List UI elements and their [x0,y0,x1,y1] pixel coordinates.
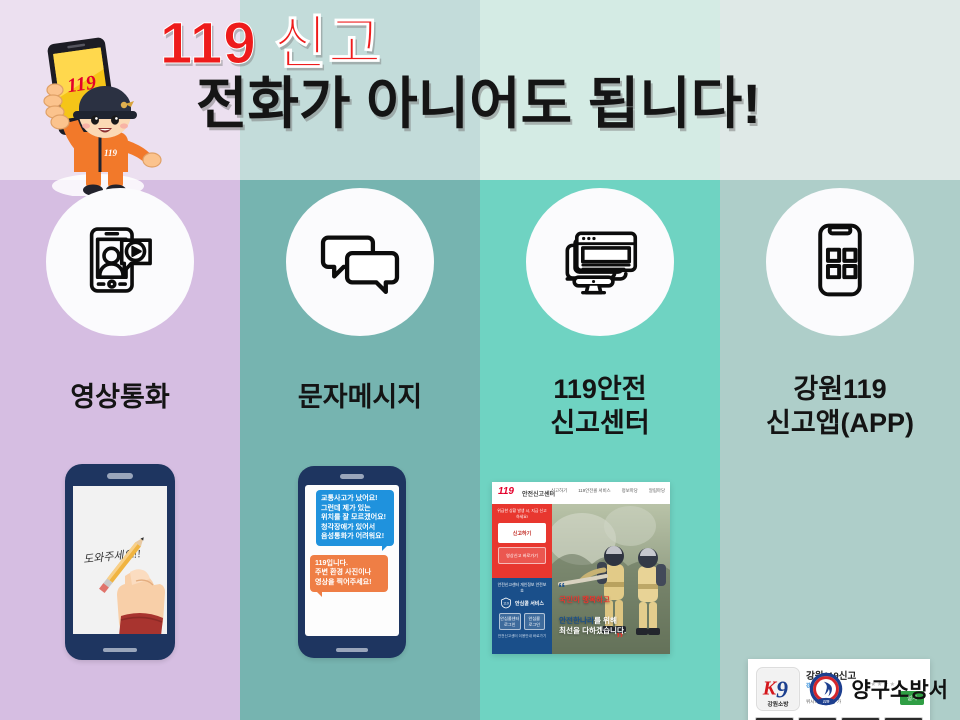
report-button-label: 신고하기 [513,530,531,537]
nav-item[interactable]: 119안전콜 서비스 [578,488,610,494]
nav-item[interactable]: 정보마당 [622,488,638,494]
safecall-login-button-alt[interactable]: 안심콜 로그인 [524,613,546,630]
handwriting-phone-mockup: 도와주세요!! [65,464,175,660]
column-tint-band [480,0,720,180]
video-report-label: 영상신고 바로가기 [506,553,538,559]
report-button[interactable]: 신고하기 [498,523,546,543]
svg-text:119: 119 [503,602,509,606]
column-tint-band [720,0,960,180]
smartphone-apps-icon [797,217,883,308]
poster-root: 119 119 [0,0,960,720]
icon-circle-text-message [286,188,434,336]
phone-speaker [340,474,364,479]
hero-quote: 국민이 행복하고 안전한나라를 위해 최선을 다하겠습니다. [559,585,626,636]
footer-organization-name: 양구소방서 [851,674,948,704]
safety-report-website-screenshot: 119 안전신고센터 신고하기 119안전콜 서비스 정보마당 알림마당 위급한… [492,482,670,654]
safecall-label: 안심콜 서비스 [515,600,544,607]
column-gangwon-119-app [720,0,960,720]
phone-home-bar [103,648,137,652]
safecall-note[interactable]: 안전신고센터 이용안내 바로가기 [496,634,548,639]
desktop-browser-icon [557,217,643,308]
shield-icon: 119 [500,597,512,609]
phone-screen: 도와주세요!! [73,486,167,634]
chat-bubbles-icon [317,217,403,308]
icon-circle-gangwon-119-app [766,188,914,336]
nav-item[interactable]: 신고하기 [551,488,567,494]
safecall-login-button[interactable]: 안심콜센터 로그인 [499,613,521,630]
website-logo: 119 [498,486,514,497]
sms-conversation-phone-mockup: 교통사고가 났어요! 그런데 제가 있는 위치를 잘 모르겠어요! 청각장애가 … [298,466,406,658]
website-hero-image: “ ” 국민이 행복하고 안전한나라를 위해 최선을 다하겠습니다. [552,504,670,654]
app-icon: K 9 강원소방 [756,667,800,711]
footer-organization: 119 양구소방서 [809,672,948,706]
caption-gangwon-119-app: 강원119 신고앱(APP) [720,372,960,440]
sms-incoming-tail [382,545,388,551]
hero-quote-line1: 국민이 행복하고 [559,595,610,604]
caption-safety-report-center: 119안전 신고센터 [480,372,720,440]
safecall-panel-caption: 안전신고센터 개인정보 안전보호 [496,582,548,594]
phone-speaker [107,473,133,479]
hero-quote-line2: 안전한나라 [559,616,594,625]
website-safecall-panel: 안전신고센터 개인정보 안전보호 119 안심콜 서비스 안심콜센터 로그인 안… [492,578,552,654]
caption-text-message: 문자메시지 [240,380,480,414]
yanggu-fire-station-emblem: 119 [809,672,843,706]
video-report-button[interactable]: 영상신고 바로가기 [498,547,546,564]
caption-video-call: 영상통화 [0,380,240,414]
column-tint-band [240,0,480,180]
svg-text:강원소방: 강원소방 [768,700,790,708]
icon-circle-video-call [46,188,194,336]
nav-item[interactable]: 알림마당 [649,488,665,494]
website-report-panel: 위급한 상황 발생 시, 지금 신고하세요! 신고하기 영상신고 바로가기 [492,504,552,578]
sms-reply-tail [316,591,322,597]
icon-circle-safety-report-center [526,188,674,336]
phone-screen: 교통사고가 났어요! 그런데 제가 있는 위치를 잘 모르겠어요! 청각장애가 … [305,485,399,636]
svg-text:119: 119 [823,699,830,704]
svg-text:119: 119 [104,148,118,158]
website-nav[interactable]: 신고하기 119안전콜 서비스 정보마당 알림마당 [551,488,665,494]
website-side-panels: 위급한 상황 발생 시, 지금 신고하세요! 신고하기 영상신고 바로가기 안전… [492,504,552,654]
sms-incoming-bubble: 교통사고가 났어요! 그런데 제가 있는 위치를 잘 모르겠어요! 청각장애가 … [316,490,394,546]
website-header: 119 안전신고센터 신고하기 119안전콜 서비스 정보마당 알림마당 [492,482,670,505]
report-panel-caption: 위급한 상황 발생 시, 지금 신고하세요! [496,508,548,520]
firefighter-mascot: 119 119 [22,28,162,193]
phone-home-bar [336,648,368,652]
svg-text:9: 9 [776,678,788,704]
video-call-phone-icon [77,217,163,308]
sms-reply-bubble: 119입니다. 주변 환경 사진이나 영상을 찍어주세요! [310,555,388,592]
